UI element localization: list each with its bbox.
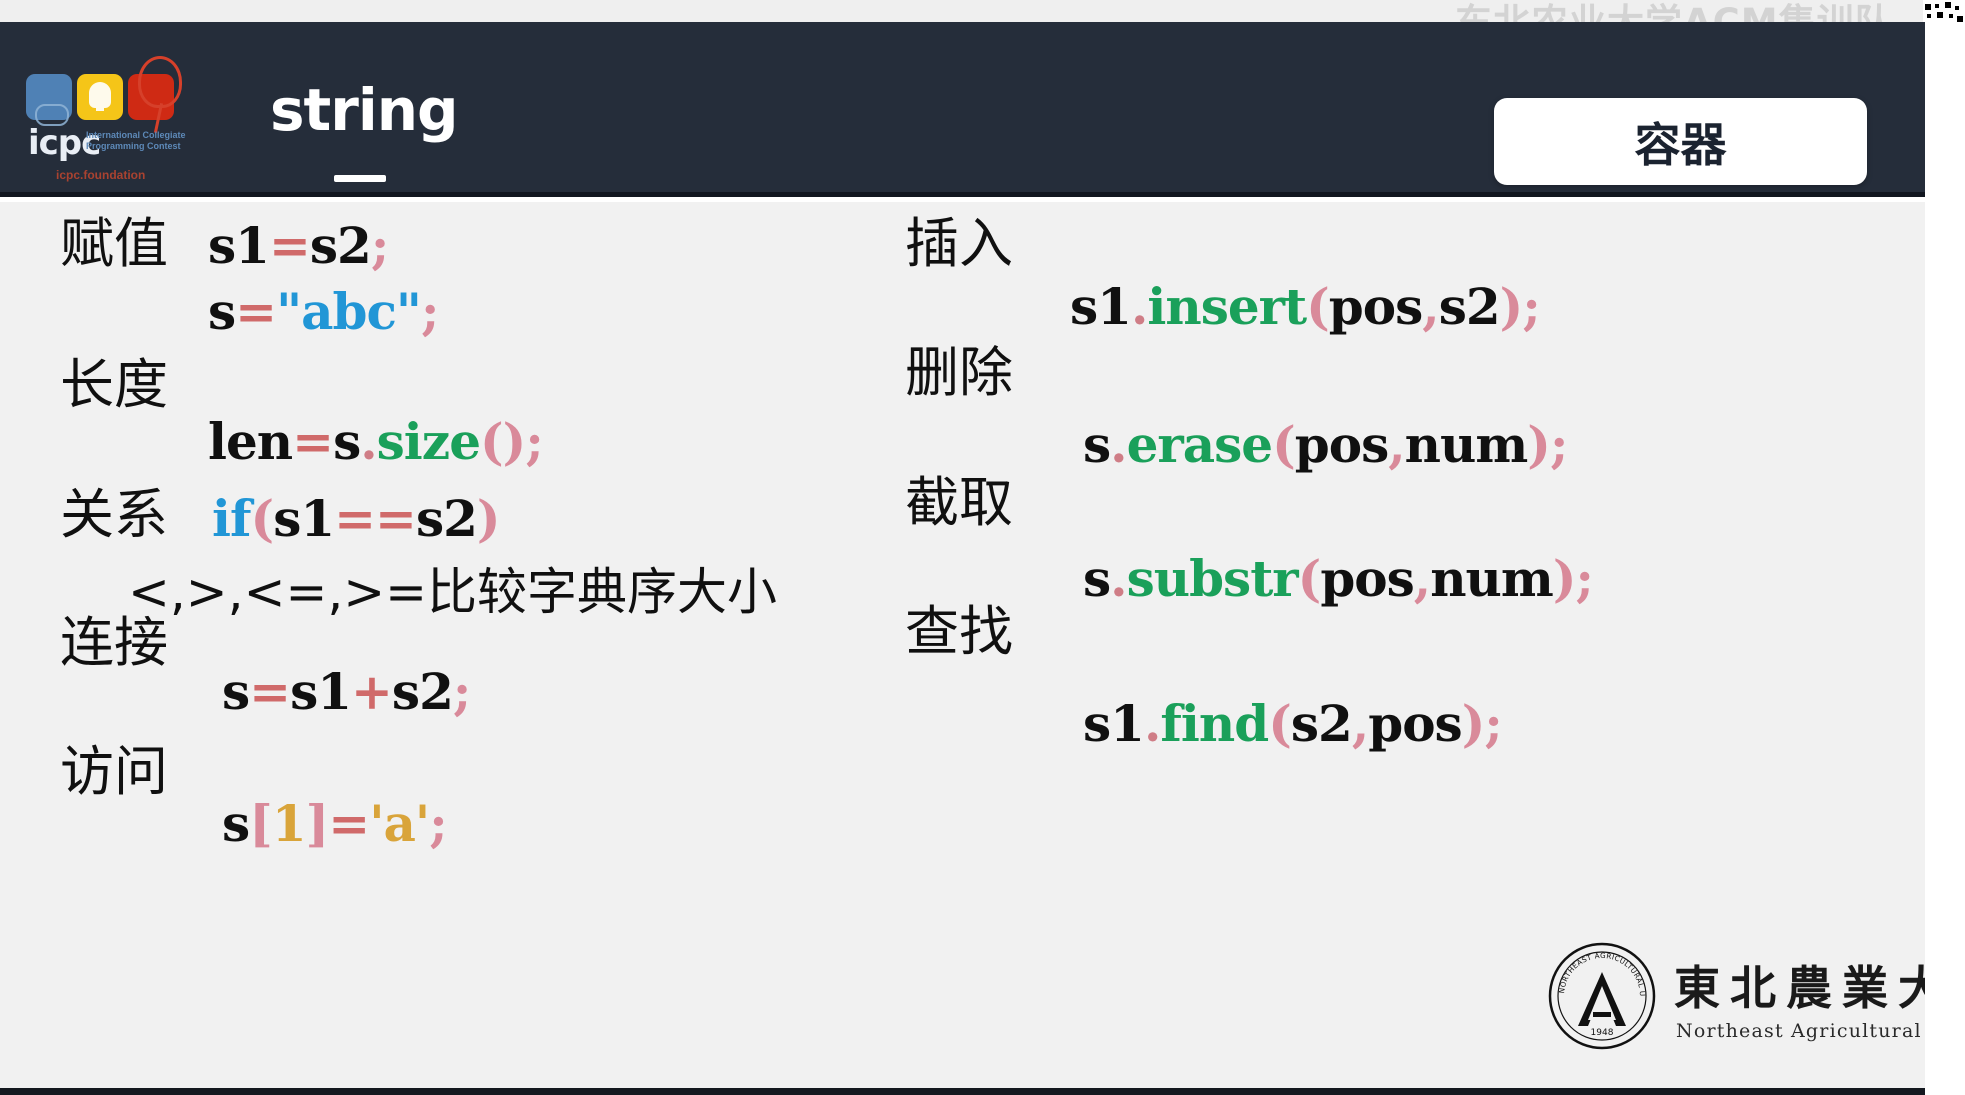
code-token: ; (525, 412, 542, 471)
row-find: 查找 (905, 604, 1013, 661)
code-token: ; (453, 662, 470, 721)
slide-header: icpc International Collegiate Programmin… (0, 22, 1925, 197)
code-token: find (1160, 694, 1268, 753)
code-relation: if(s1==s2) (212, 489, 500, 548)
code-token: s (222, 662, 249, 721)
code-assign-2: s="abc"; (208, 282, 438, 341)
code-token: s1 (273, 489, 334, 548)
note-relation: <,>,<=,>=比较字典序大小 (128, 552, 777, 624)
code-insert: s1.insert(pos,s2); (1070, 277, 1540, 336)
code-token: . (1110, 415, 1126, 474)
bottom-rule (0, 1088, 1925, 1095)
code-token: = (269, 216, 310, 275)
university-logo: NORTHEAST AGRICULTURAL UNIVERSITY 1948 東… (1548, 938, 1928, 1058)
code-token: ; (371, 216, 388, 275)
code-token: , (1422, 277, 1438, 336)
svg-text:1948: 1948 (1591, 1028, 1614, 1038)
row-length: 长度 (60, 357, 168, 414)
icpc-subtitle-line1: International Collegiate (86, 130, 186, 140)
code-token: s1 (208, 216, 269, 275)
code-token: . (1110, 549, 1126, 608)
code-token: num (1430, 549, 1553, 608)
right-gutter (1925, 22, 1965, 1095)
label-erase: 删除 (905, 341, 1013, 404)
code-token: () (480, 412, 525, 471)
code-token: = (235, 282, 276, 341)
code-token: = (249, 662, 290, 721)
code-concat: s=s1+s2; (222, 662, 470, 721)
code-token: s (1083, 549, 1110, 608)
code-token: 'a' (369, 794, 429, 853)
icpc-logo-icon: icpc International Collegiate Programmin… (26, 60, 186, 190)
code-token: substr (1127, 549, 1298, 608)
icpc-subtitle: International Collegiate Programming Con… (86, 130, 191, 152)
code-token: s (333, 412, 360, 471)
code-token: s2 (416, 489, 477, 548)
label-length: 长度 (60, 353, 168, 416)
code-token: ; (429, 794, 446, 853)
code-token: = (328, 794, 369, 853)
code-token: ; (1522, 277, 1539, 336)
label-find: 查找 (905, 600, 1013, 663)
code-token: ) (1500, 277, 1523, 336)
code-substr: s.substr(pos,num); (1083, 549, 1593, 608)
university-seal-icon: NORTHEAST AGRICULTURAL UNIVERSITY 1948 (1548, 942, 1656, 1050)
code-token: , (1414, 549, 1430, 608)
university-name-en: Northeast Agricultural University (1676, 1020, 1965, 1042)
code-token: . (1131, 277, 1147, 336)
icpc-foundation-text: icpc.foundation (56, 168, 145, 182)
row-substr: 截取 (905, 475, 1013, 532)
code-token: ] (306, 794, 329, 853)
code-token: + (351, 662, 392, 721)
code-token: pos (1320, 549, 1413, 608)
code-token: ; (1576, 549, 1593, 608)
label-concat: 连接 (60, 611, 168, 674)
title-underline-rule (334, 175, 386, 182)
code-token: s (222, 794, 249, 853)
slide-screen: 东北农业大学ACM集训队 (0, 0, 1965, 1095)
row-erase: 删除 (905, 345, 1013, 402)
code-token: , (1352, 694, 1368, 753)
code-token: "abc" (276, 282, 421, 341)
code-token: s2 (1291, 694, 1352, 753)
code-find: s1.find(s2,pos); (1083, 694, 1502, 753)
code-token: ( (1268, 694, 1291, 753)
code-token: . (1144, 694, 1160, 753)
code-token: num (1405, 415, 1528, 474)
code-token: s2 (392, 662, 453, 721)
code-token: ( (1272, 415, 1295, 474)
code-token: ; (421, 282, 438, 341)
code-token: pos (1368, 694, 1461, 753)
code-token: erase (1127, 415, 1273, 474)
code-token: pos (1329, 277, 1422, 336)
code-token: pos (1295, 415, 1388, 474)
code-token: ; (1484, 694, 1501, 753)
code-assign-1: s1=s2; (208, 216, 388, 275)
code-token: s1 (1083, 694, 1144, 753)
header-underline (0, 192, 1925, 197)
icpc-subtitle-line2: Programming Contest (86, 141, 181, 151)
code-token: if (212, 489, 251, 548)
icpc-tile-yellow (77, 74, 123, 120)
label-relation: 关系 (60, 483, 168, 546)
code-token: == (334, 489, 416, 548)
code-token: s (208, 282, 235, 341)
code-length: len=s.size(); (208, 412, 543, 471)
label-assign: 赋值 (60, 212, 168, 275)
code-token: s1 (290, 662, 351, 721)
lightbulb-icon (89, 82, 111, 108)
code-token: ) (477, 489, 500, 548)
icpc-tile-blue (26, 74, 72, 120)
code-token: s2 (1439, 277, 1500, 336)
code-token: size (377, 412, 480, 471)
code-token: ( (1298, 549, 1321, 608)
row-insert: 插入 (905, 216, 1013, 273)
section-badge[interactable]: 容器 (1494, 98, 1867, 185)
label-substr: 截取 (905, 471, 1013, 534)
label-insert: 插入 (905, 212, 1013, 275)
code-token: s2 (310, 216, 371, 275)
code-token: ; (1550, 415, 1567, 474)
row-access: 访问 (60, 744, 168, 801)
university-name-cn: 東北農業大學 (1674, 952, 1965, 1018)
code-token: , (1388, 415, 1404, 474)
label-access: 访问 (60, 740, 168, 803)
code-token: len (208, 412, 292, 471)
page-title: string (270, 76, 458, 144)
code-token: insert (1147, 277, 1306, 336)
code-token: ( (251, 489, 274, 548)
code-token: s1 (1070, 277, 1131, 336)
code-token: ) (1553, 549, 1576, 608)
row-concat: 连接 (60, 615, 168, 672)
row-assign: 赋值 (60, 216, 168, 273)
code-access: s[1]='a'; (222, 794, 447, 853)
code-erase: s.erase(pos,num); (1083, 415, 1567, 474)
code-token: 1 (272, 794, 306, 853)
code-token: = (292, 412, 333, 471)
row-relation: 关系 (60, 487, 168, 544)
code-token: . (360, 412, 376, 471)
balloon-icon (138, 56, 182, 108)
code-token: ) (1462, 694, 1485, 753)
code-token: ( (1306, 277, 1329, 336)
code-token: ) (1527, 415, 1550, 474)
code-token: [ (249, 794, 272, 853)
top-strip (0, 0, 1965, 22)
code-token: s (1083, 415, 1110, 474)
